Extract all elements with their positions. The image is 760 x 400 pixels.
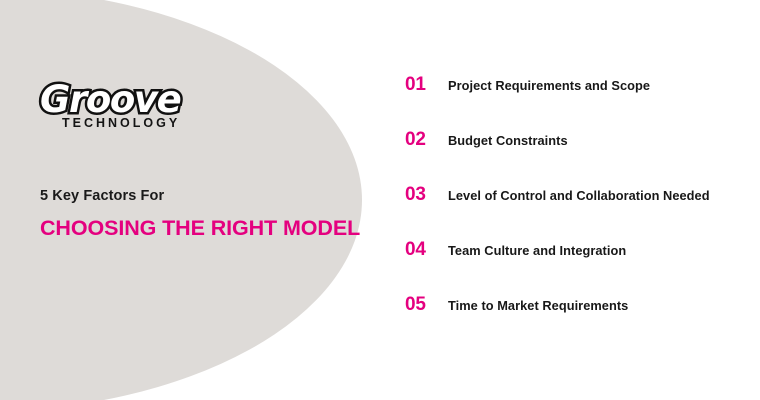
list-item: 04 Team Culture and Integration <box>405 239 745 294</box>
brand-logo: Groove TECHNOLOGY <box>40 78 240 140</box>
factor-number: 03 <box>405 184 443 206</box>
factor-label: Project Requirements and Scope <box>448 77 650 94</box>
factor-list: 01 Project Requirements and Scope 02 Bud… <box>405 74 745 349</box>
factor-label: Level of Control and Collaboration Neede… <box>448 187 710 204</box>
factor-label: Budget Constraints <box>448 132 568 149</box>
infographic-slide: Groove TECHNOLOGY 5 Key Factors For CHOO… <box>0 0 760 400</box>
logo-tagline: TECHNOLOGY <box>62 115 180 131</box>
factor-number: 02 <box>405 129 443 151</box>
list-item: 05 Time to Market Requirements <box>405 294 745 349</box>
list-item: 01 Project Requirements and Scope <box>405 74 745 129</box>
list-item: 02 Budget Constraints <box>405 129 745 184</box>
factor-label: Time to Market Requirements <box>448 297 628 314</box>
factor-number: 05 <box>405 294 443 316</box>
factor-number: 04 <box>405 239 443 261</box>
factor-label: Team Culture and Integration <box>448 242 626 259</box>
factor-number: 01 <box>405 74 443 96</box>
page-title: CHOOSING THE RIGHT MODEL <box>40 215 370 241</box>
list-item: 03 Level of Control and Collaboration Ne… <box>405 184 745 239</box>
headline-kicker: 5 Key Factors For <box>40 186 370 206</box>
headline-block: 5 Key Factors For CHOOSING THE RIGHT MOD… <box>40 186 370 241</box>
